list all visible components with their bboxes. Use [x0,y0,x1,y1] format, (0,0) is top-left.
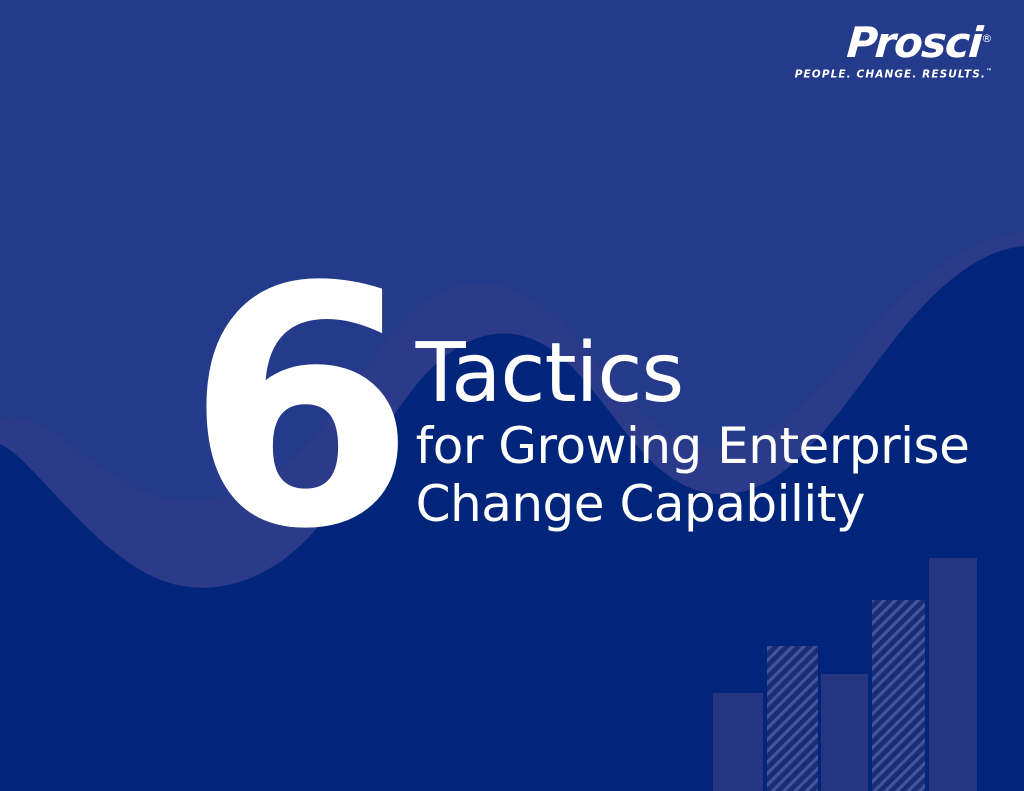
prosci-logo: Prosci® PEOPLE. CHANGE. RESULTS.™ [795,22,992,80]
bar-2 [767,646,818,791]
trademark-mark-icon: ™ [986,68,992,75]
logo-tagline-text: PEOPLE. CHANGE. RESULTS. [795,69,986,81]
bar-1 [713,693,763,791]
bar-3 [821,674,868,791]
page-subtitle: for Growing Enterprise Change Capability [416,417,970,533]
logo-tagline: PEOPLE. CHANGE. RESULTS.™ [795,69,992,80]
registered-mark-icon: ® [981,33,992,44]
headline-text-block: Tactics for Growing Enterprise Change Ca… [416,292,970,533]
bar-4 [872,600,925,791]
bar-5 [929,558,977,791]
ebook-cover: Prosci® PEOPLE. CHANGE. RESULTS.™ 6 Tact… [0,0,1024,791]
cover-headline: 6 Tactics for Growing Enterprise Change … [186,292,969,535]
logo-wordmark: Prosci® [845,22,993,64]
page-title: Tactics [416,336,970,411]
logo-wordmark-text: Prosci [845,18,983,67]
headline-number: 6 [186,284,408,535]
